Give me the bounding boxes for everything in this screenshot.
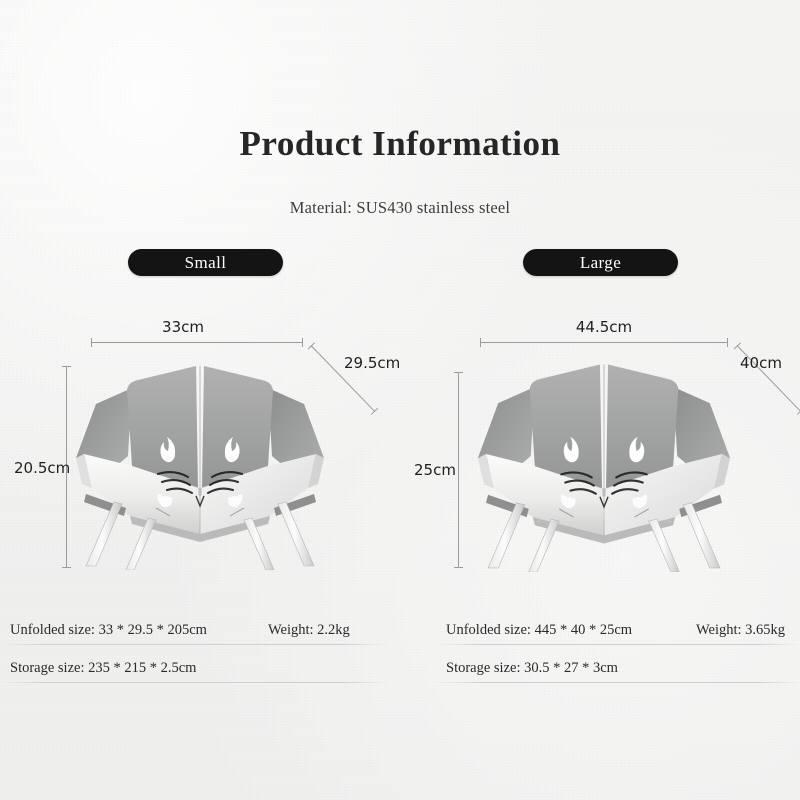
dimension-label-width-large: 44.5cm <box>576 318 632 336</box>
spec-divider-large-1 <box>436 644 800 645</box>
dimension-line-height-large <box>458 372 459 568</box>
stove-illustration-small <box>70 338 330 570</box>
dimension-label-width-small: 33cm <box>162 318 204 336</box>
spec-weight-small: Weight: 2.2kg <box>268 622 350 639</box>
spec-storage-small: Storage size: 235 * 215 * 2.5cm <box>10 660 196 677</box>
dimension-label-depth-large: 40cm <box>740 354 782 372</box>
stove-illustration-large <box>468 336 740 572</box>
spec-unfolded-small: Unfolded size: 33 * 29.5 * 205cm <box>10 622 207 639</box>
dimension-label-height-small: 20.5cm <box>14 459 70 477</box>
spec-divider-small-1 <box>0 644 388 645</box>
product-column-large: 44.5cm 40cm 25cm <box>400 0 800 800</box>
spec-divider-large-2 <box>436 682 800 683</box>
dimension-label-depth-small: 29.5cm <box>344 354 400 372</box>
product-image-small <box>70 338 330 570</box>
spec-divider-small-2 <box>0 682 388 683</box>
product-column-small: 33cm 29.5cm 20.5cm <box>0 0 400 800</box>
spec-unfolded-large: Unfolded size: 445 * 40 * 25cm <box>446 622 632 639</box>
spec-storage-large: Storage size: 30.5 * 27 * 3cm <box>446 660 618 677</box>
product-image-large <box>468 336 740 572</box>
dimension-label-height-large: 25cm <box>414 461 456 479</box>
spec-weight-large: Weight: 3.65kg <box>696 622 785 639</box>
